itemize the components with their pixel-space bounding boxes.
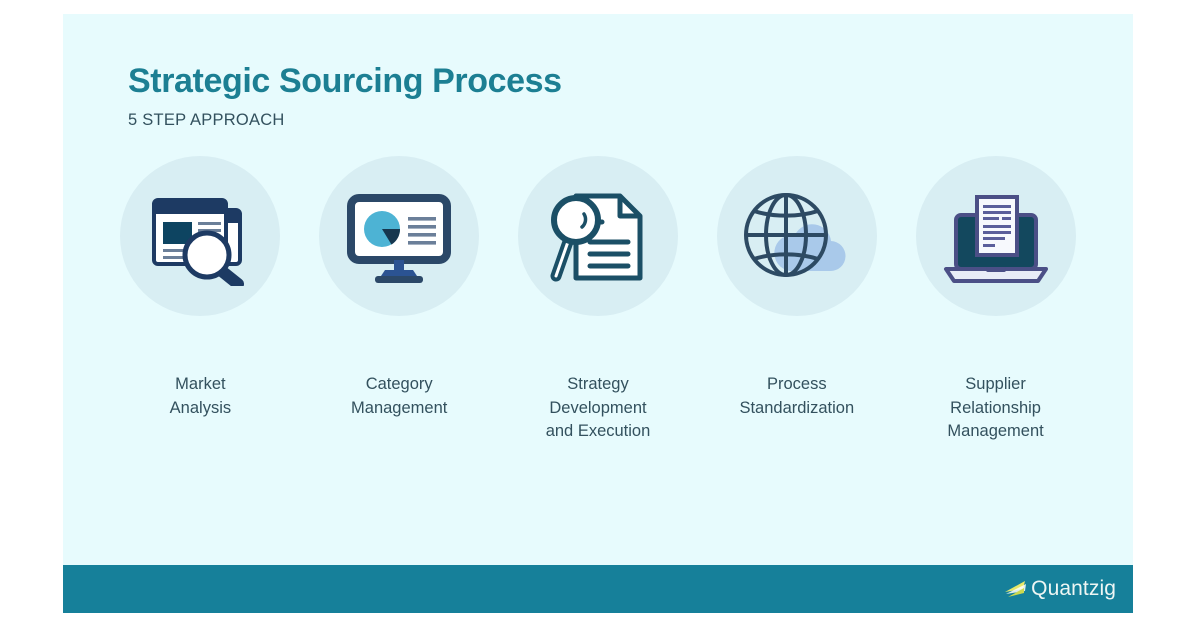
page-title: Strategic Sourcing Process [128, 62, 1133, 100]
laptop-document-icon [940, 187, 1052, 285]
slide-footer: Quantzig [63, 565, 1133, 613]
step-1-label: Market Analysis [170, 373, 231, 420]
page-subtitle: 5 STEP APPROACH [128, 111, 1133, 130]
step-3-label: Strategy Development and Execution [546, 373, 651, 443]
step-3-icon-circle [518, 156, 678, 316]
process-steps: Market Analysis [63, 156, 1133, 565]
step-5-icon-circle [916, 156, 1076, 316]
monitor-pie-chart-icon [345, 188, 453, 284]
process-step-3: Strategy Development and Execution [499, 156, 698, 443]
brand-logo: Quantzig [1003, 577, 1116, 601]
process-step-4: Process Standardization [697, 156, 896, 420]
document-magnifier-icon [544, 186, 652, 286]
quantzig-wing-icon [1003, 578, 1029, 600]
step-4-icon-circle [717, 156, 877, 316]
process-step-1: Market Analysis [101, 156, 300, 420]
slide-header: Strategic Sourcing Process 5 STEP APPROA… [63, 14, 1133, 130]
step-2-icon-circle [319, 156, 479, 316]
globe-cloud-icon [742, 187, 852, 285]
slide-canvas: Strategic Sourcing Process 5 STEP APPROA… [63, 14, 1133, 613]
step-4-label: Process Standardization [739, 373, 854, 420]
process-step-5: Supplier Relationship Management [896, 156, 1095, 443]
brand-name: Quantzig [1031, 577, 1116, 601]
step-1-icon-circle [120, 156, 280, 316]
browser-window-search-icon [146, 186, 254, 286]
process-step-2: Category Management [300, 156, 499, 420]
step-2-label: Category Management [351, 373, 447, 420]
step-5-label: Supplier Relationship Management [947, 373, 1043, 443]
